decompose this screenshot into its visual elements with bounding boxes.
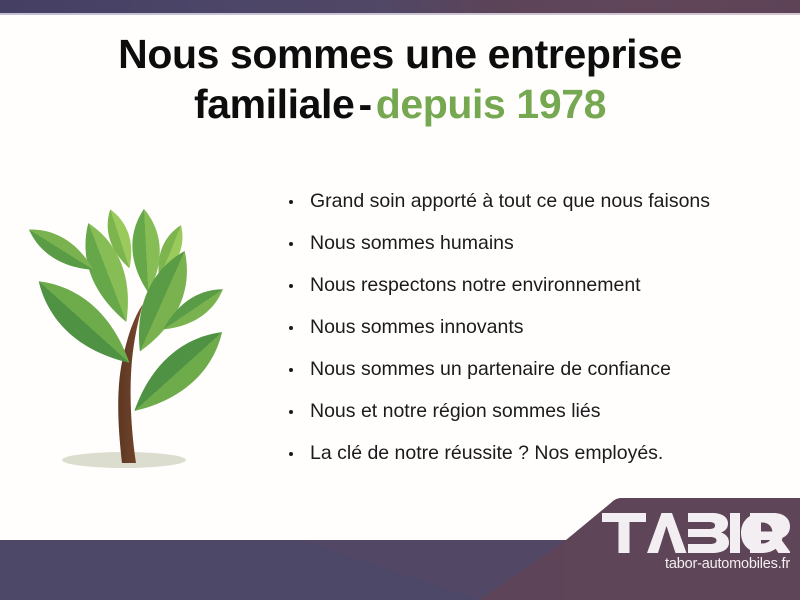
bullet-dot-icon <box>289 284 293 288</box>
list-item-label: Nous respectons notre environnement <box>310 274 641 296</box>
title-line-2-plain: familiale <box>194 81 354 127</box>
list-item-label: La clé de notre réussite ? Nos employés. <box>310 442 663 464</box>
list-item: Nous sommes innovants <box>286 318 756 338</box>
list-item-label: Nous sommes humains <box>310 232 514 254</box>
list-item: Nous respectons notre environnement <box>286 276 756 296</box>
bullet-dot-icon <box>289 368 293 372</box>
value-bullet-list: Grand soin apporté à tout ce que nous fa… <box>286 192 756 464</box>
list-item: Grand soin apporté à tout ce que nous fa… <box>286 192 756 212</box>
title-line-2: familiale-depuis 1978 <box>0 82 800 126</box>
brand-logo[interactable]: tabor-automobiles.fr <box>600 513 790 572</box>
bullet-dot-icon <box>289 200 293 204</box>
top-decorative-bar <box>0 0 800 13</box>
list-item: Nous sommes humains <box>286 234 756 254</box>
family-tree-illustration <box>18 192 268 492</box>
title-dash: - <box>354 81 375 127</box>
page-title: Nous sommes une entreprise familiale-dep… <box>0 32 800 127</box>
list-item-label: Nous et notre région sommes liés <box>310 400 600 422</box>
list-item: La clé de notre réussite ? Nos employés. <box>286 444 756 464</box>
list-item-label: Grand soin apporté à tout ce que nous fa… <box>310 190 710 212</box>
list-item-label: Nous sommes innovants <box>310 316 524 338</box>
bullet-dot-icon <box>289 326 293 330</box>
slide-canvas: Nous sommes une entreprise familiale-dep… <box>0 0 800 600</box>
tabor-wordmark-icon <box>602 513 790 553</box>
bullet-dot-icon <box>289 452 293 456</box>
tree-svg <box>18 192 268 492</box>
list-item: Nous sommes un partenaire de confiance <box>286 360 756 380</box>
title-accent-year: depuis 1978 <box>376 81 606 127</box>
bullet-dot-icon <box>289 410 293 414</box>
logo-url-label: tabor-automobiles.fr <box>600 556 790 572</box>
top-bar-hairline <box>0 13 800 15</box>
list-item: Nous et notre région sommes liés <box>286 402 756 422</box>
list-item-label: Nous sommes un partenaire de confiance <box>310 358 671 380</box>
title-line-1: Nous sommes une entreprise <box>0 32 800 76</box>
bullet-dot-icon <box>289 242 293 246</box>
